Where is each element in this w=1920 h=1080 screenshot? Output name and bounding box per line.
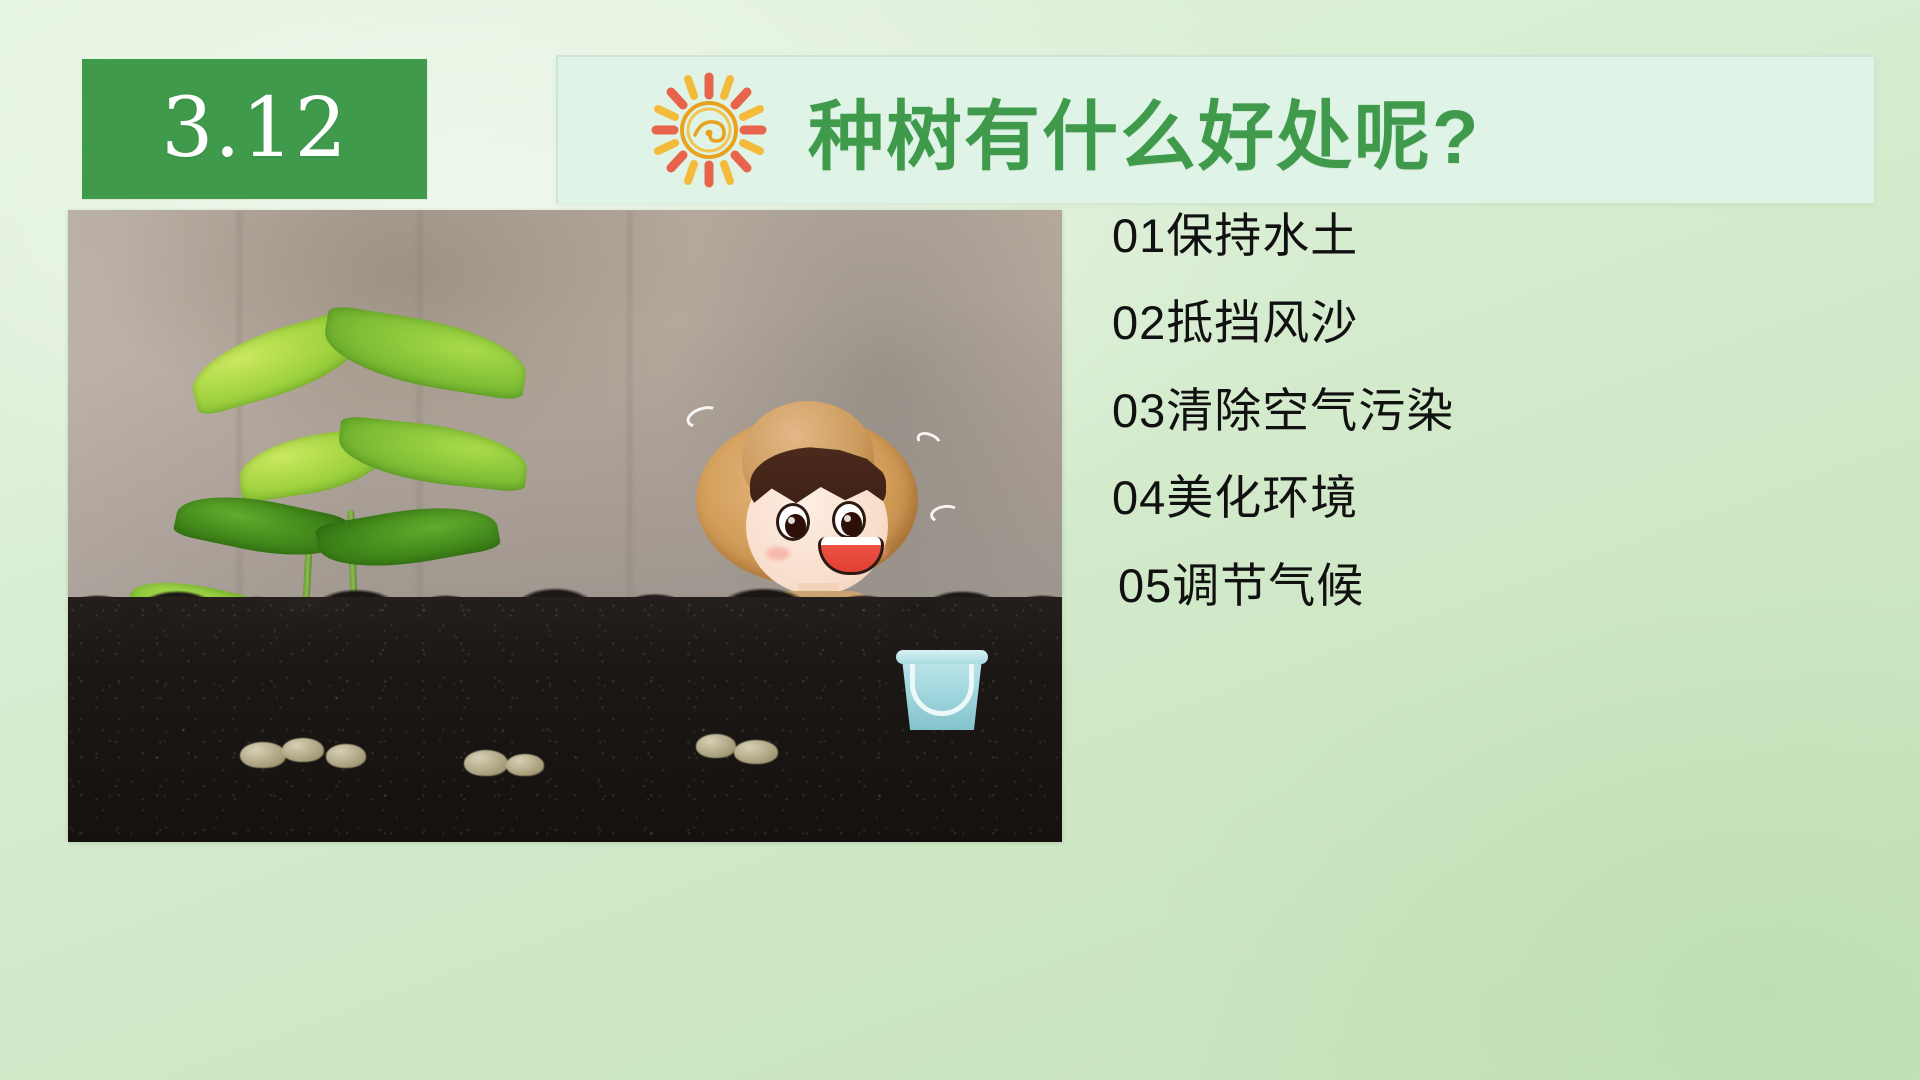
boy-eye-right	[832, 501, 866, 539]
date-badge-label: 3.12	[161, 88, 348, 170]
sun-icon	[648, 69, 770, 191]
sparkle-icon	[684, 402, 723, 432]
page-title: 种树有什么好处呢?	[808, 75, 1480, 185]
slide-header: 3.12	[0, 0, 1920, 222]
pebble	[282, 738, 324, 762]
list-item: 01保持水土	[1112, 208, 1858, 263]
pebble	[734, 740, 778, 764]
sparkle-icon	[914, 428, 944, 453]
date-badge: 3.12	[82, 59, 427, 199]
bucket-rim	[896, 650, 988, 664]
benefits-list: 01保持水土 02抵挡风沙 03清除空气污染 04美化环境 05调节气候	[1098, 208, 1858, 645]
planting-photo	[68, 210, 1062, 842]
list-item: 04美化环境	[1112, 470, 1858, 525]
list-item: 03清除空气污染	[1112, 383, 1858, 438]
list-item: 02抵挡风沙	[1112, 295, 1858, 350]
sparkle-icon	[929, 503, 961, 525]
water-bucket	[896, 642, 988, 730]
pebble	[240, 742, 286, 768]
pebble	[696, 734, 736, 758]
boy-eye-left	[776, 503, 810, 541]
pebble	[506, 754, 544, 776]
title-bar: 种树有什么好处呢?	[556, 55, 1874, 203]
list-item: 05调节气候	[1118, 558, 1858, 613]
boy-blush-left	[766, 547, 790, 560]
pebble	[326, 744, 366, 768]
pebble	[464, 750, 508, 776]
